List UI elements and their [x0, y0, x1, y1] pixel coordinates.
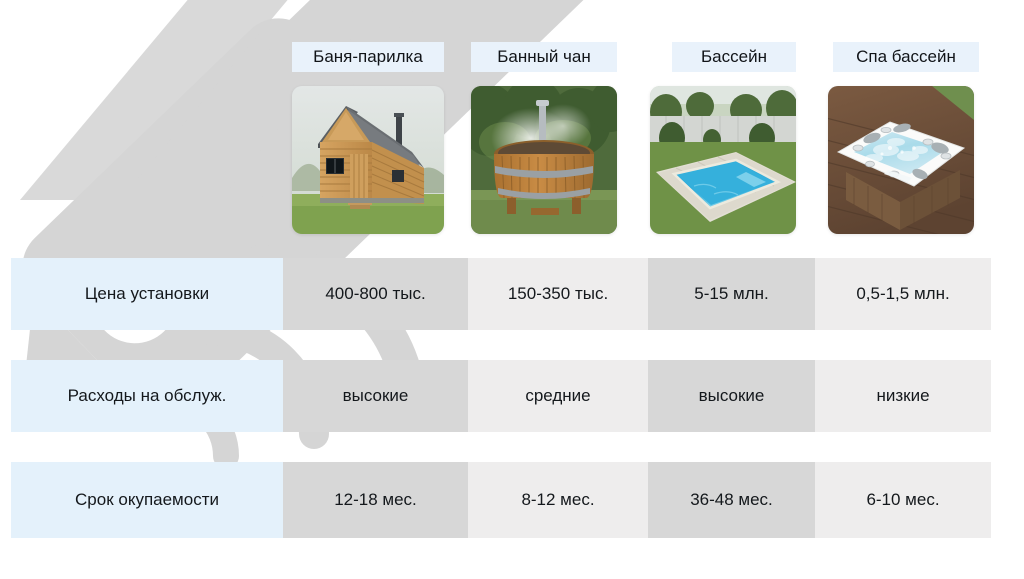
row-label-0: Цена установки	[11, 258, 283, 330]
column-header-3: Спа бассейн	[833, 42, 979, 72]
cell-r0c3: 0,5-1,5 млн.	[815, 258, 991, 330]
photo-swimming-pool	[650, 86, 796, 234]
photo-wooden-hot-tub	[471, 86, 617, 234]
photo-log-sauna	[292, 86, 444, 234]
cell-r2c2: 36-48 мес.	[648, 462, 815, 538]
cell-r2c3: 6-10 мес.	[815, 462, 991, 538]
column-header-1: Банный чан	[471, 42, 617, 72]
cell-r2c0: 12-18 мес.	[283, 462, 468, 538]
cell-r1c1: средние	[468, 360, 648, 432]
cell-r1c3: низкие	[815, 360, 991, 432]
cell-r1c0: высокие	[283, 360, 468, 432]
row-label-2: Срок окупаемости	[11, 462, 283, 538]
cell-r2c1: 8-12 мес.	[468, 462, 648, 538]
cell-r0c0: 400-800 тыс.	[283, 258, 468, 330]
row-label-1: Расходы на обслуж.	[11, 360, 283, 432]
comparison-table: Баня-парилка Банный чан Бассейн Спа басс…	[0, 0, 1024, 579]
column-header-0: Баня-парилка	[292, 42, 444, 72]
cell-r0c1: 150-350 тыс.	[468, 258, 648, 330]
column-header-2: Бассейн	[672, 42, 796, 72]
cell-r0c2: 5-15 млн.	[648, 258, 815, 330]
photo-spa-hot-tub	[828, 86, 974, 234]
cell-r1c2: высокие	[648, 360, 815, 432]
